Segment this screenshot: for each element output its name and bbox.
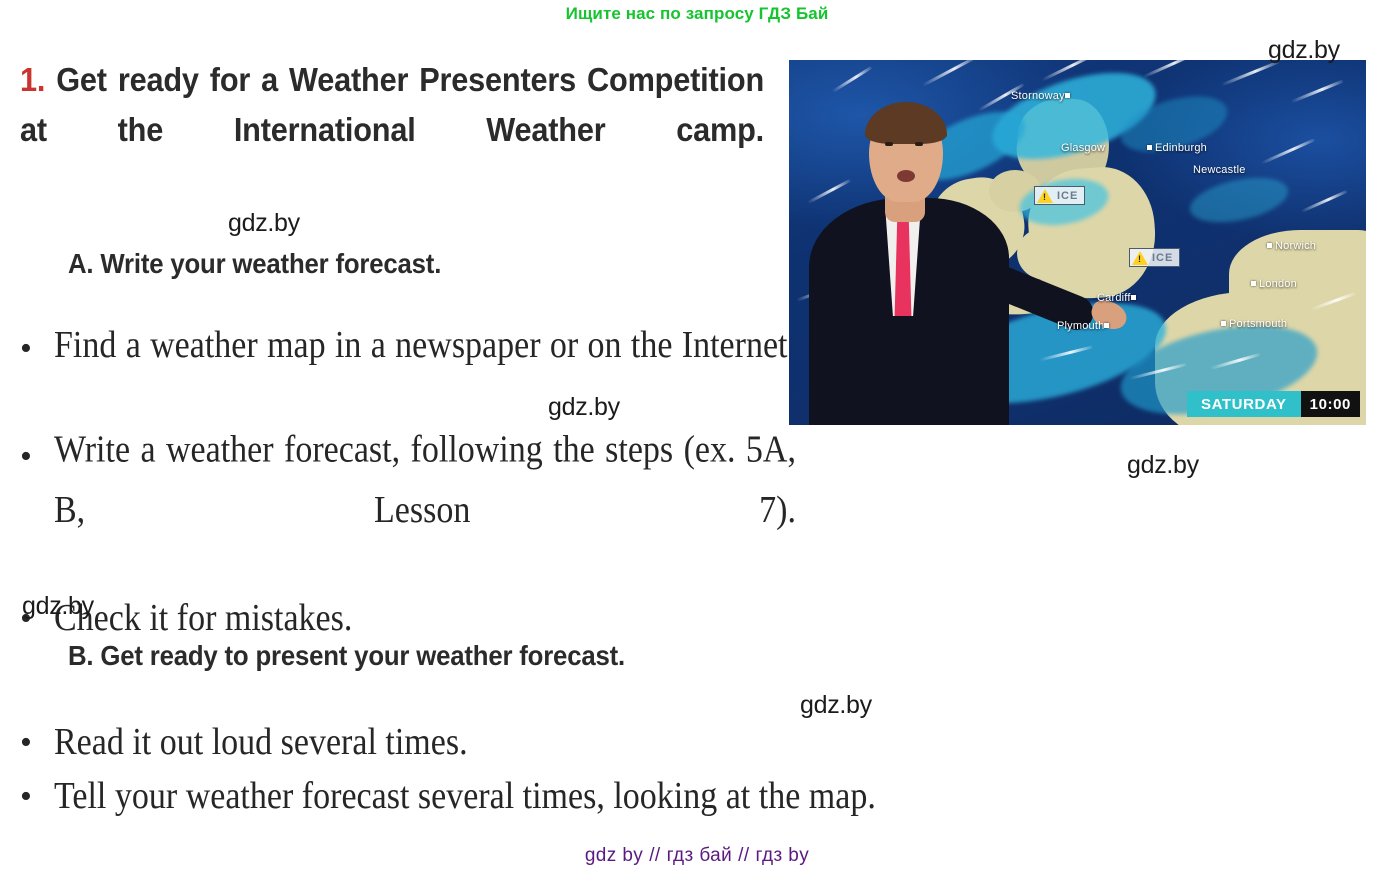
task-title-text: Get ready for a Weather Presenters Compe… bbox=[20, 61, 764, 148]
city-pin-icon bbox=[1065, 93, 1070, 98]
section-b-heading: B. Get ready to present your weather for… bbox=[68, 640, 625, 672]
bullet-dot-icon: • bbox=[20, 322, 32, 376]
city-label-plymouth: Plymouth bbox=[1057, 320, 1112, 332]
footer-links: gdz by//гдз бай//гдз by bbox=[0, 845, 1394, 867]
city-pin-icon bbox=[1251, 281, 1256, 286]
city-name: Portsmouth bbox=[1229, 318, 1287, 330]
city-pin-icon bbox=[1221, 321, 1226, 326]
forecast-time-banner: SATURDAY 10:00 bbox=[1187, 391, 1360, 417]
city-pin-icon bbox=[1147, 145, 1152, 150]
city-label-newcastle: Newcastle bbox=[1193, 164, 1246, 176]
presenter-hair bbox=[865, 102, 947, 144]
watermark: gdz.by bbox=[22, 592, 94, 621]
warning-triangle-icon bbox=[1132, 251, 1148, 265]
city-name: Stornoway bbox=[1011, 90, 1065, 102]
presenter-figure bbox=[803, 86, 1018, 425]
list-item-text: Find a weather map in a newspaper or on … bbox=[54, 316, 796, 437]
watermark: gdz.by bbox=[228, 209, 300, 238]
list-item: •Write a weather forecast, following the… bbox=[8, 430, 796, 592]
city-name: Edinburgh bbox=[1155, 142, 1207, 154]
section-b-bullet-list: •Read it out loud several times. •Tell y… bbox=[8, 716, 1388, 824]
city-label-norwich: Norwich bbox=[1267, 240, 1316, 252]
footer-part-3: гдз by bbox=[756, 845, 810, 866]
city-label-edinburgh: Edinburgh bbox=[1147, 142, 1207, 154]
footer-part-2: гдз бай bbox=[667, 845, 733, 866]
city-pin-icon bbox=[1267, 243, 1272, 248]
city-label-cardiff: Cardiff bbox=[1097, 292, 1139, 304]
city-name: Glasgow bbox=[1061, 142, 1105, 154]
promo-banner: Ищите нас по запросу ГДЗ Бай bbox=[0, 4, 1394, 24]
watermark: gdz.by bbox=[548, 393, 620, 422]
city-pin-icon bbox=[1104, 323, 1109, 328]
presenter-eye bbox=[915, 142, 923, 146]
worksheet-page: Ищите нас по запросу ГДЗ Бай 1. Get read… bbox=[0, 0, 1394, 876]
bullet-dot-icon: • bbox=[20, 716, 32, 770]
city-label-portsmouth: Portsmouth bbox=[1221, 318, 1287, 330]
forecast-time-label: 10:00 bbox=[1301, 391, 1360, 417]
task-number: 1. bbox=[20, 61, 45, 98]
city-name: Norwich bbox=[1275, 240, 1316, 252]
city-label-glasgow: Glasgow bbox=[1061, 142, 1105, 154]
list-item-text: Tell your weather forecast several times… bbox=[54, 767, 1388, 827]
list-item: •Find a weather map in a newspaper or on… bbox=[8, 322, 796, 430]
city-name: Cardiff bbox=[1097, 292, 1131, 304]
city-name: Newcastle bbox=[1193, 164, 1246, 176]
forecast-day-label: SATURDAY bbox=[1187, 391, 1301, 417]
footer-separator: // bbox=[643, 845, 666, 866]
list-item: •Tell your weather forecast several time… bbox=[8, 770, 1388, 824]
warning-text: ICE bbox=[1057, 190, 1078, 202]
weather-warning-badge: ICE bbox=[1034, 186, 1085, 205]
list-item: •Read it out loud several times. bbox=[8, 716, 1388, 770]
footer-separator: // bbox=[732, 845, 755, 866]
warning-triangle-icon bbox=[1037, 189, 1053, 203]
presenter-mouth bbox=[897, 170, 915, 182]
watermark: gdz.by bbox=[1127, 451, 1199, 480]
watermark: gdz.by bbox=[1268, 36, 1340, 65]
presenter-eye bbox=[885, 142, 893, 146]
exercise-text-column: 1. Get ready for a Weather Presenters Co… bbox=[20, 55, 762, 205]
bullet-dot-icon: • bbox=[20, 770, 32, 824]
city-label-london: London bbox=[1251, 278, 1297, 290]
city-name: London bbox=[1259, 278, 1297, 290]
list-item: •Check it for mistakes. bbox=[8, 592, 796, 646]
city-name: Plymouth bbox=[1057, 320, 1104, 332]
footer-part-1: gdz by bbox=[585, 845, 643, 866]
task-title: 1. Get ready for a Weather Presenters Co… bbox=[20, 55, 764, 205]
section-a-heading: A. Write your weather forecast. bbox=[68, 248, 441, 280]
bullet-dot-icon: • bbox=[20, 430, 32, 484]
city-pin-icon bbox=[1131, 295, 1136, 300]
warning-text: ICE bbox=[1152, 252, 1173, 264]
section-a-bullet-list: •Find a weather map in a newspaper or on… bbox=[8, 322, 758, 646]
list-item-text: Write a weather forecast, following the … bbox=[54, 420, 796, 601]
weather-presenter-photo: Stornoway Glasgow Edinburgh Newcastle No… bbox=[789, 60, 1366, 425]
weather-warning-badge: ICE bbox=[1129, 248, 1180, 267]
city-label-stornoway: Stornoway bbox=[1011, 90, 1073, 102]
watermark: gdz.by bbox=[800, 691, 872, 720]
list-item-text: Read it out loud several times. bbox=[54, 713, 1388, 773]
